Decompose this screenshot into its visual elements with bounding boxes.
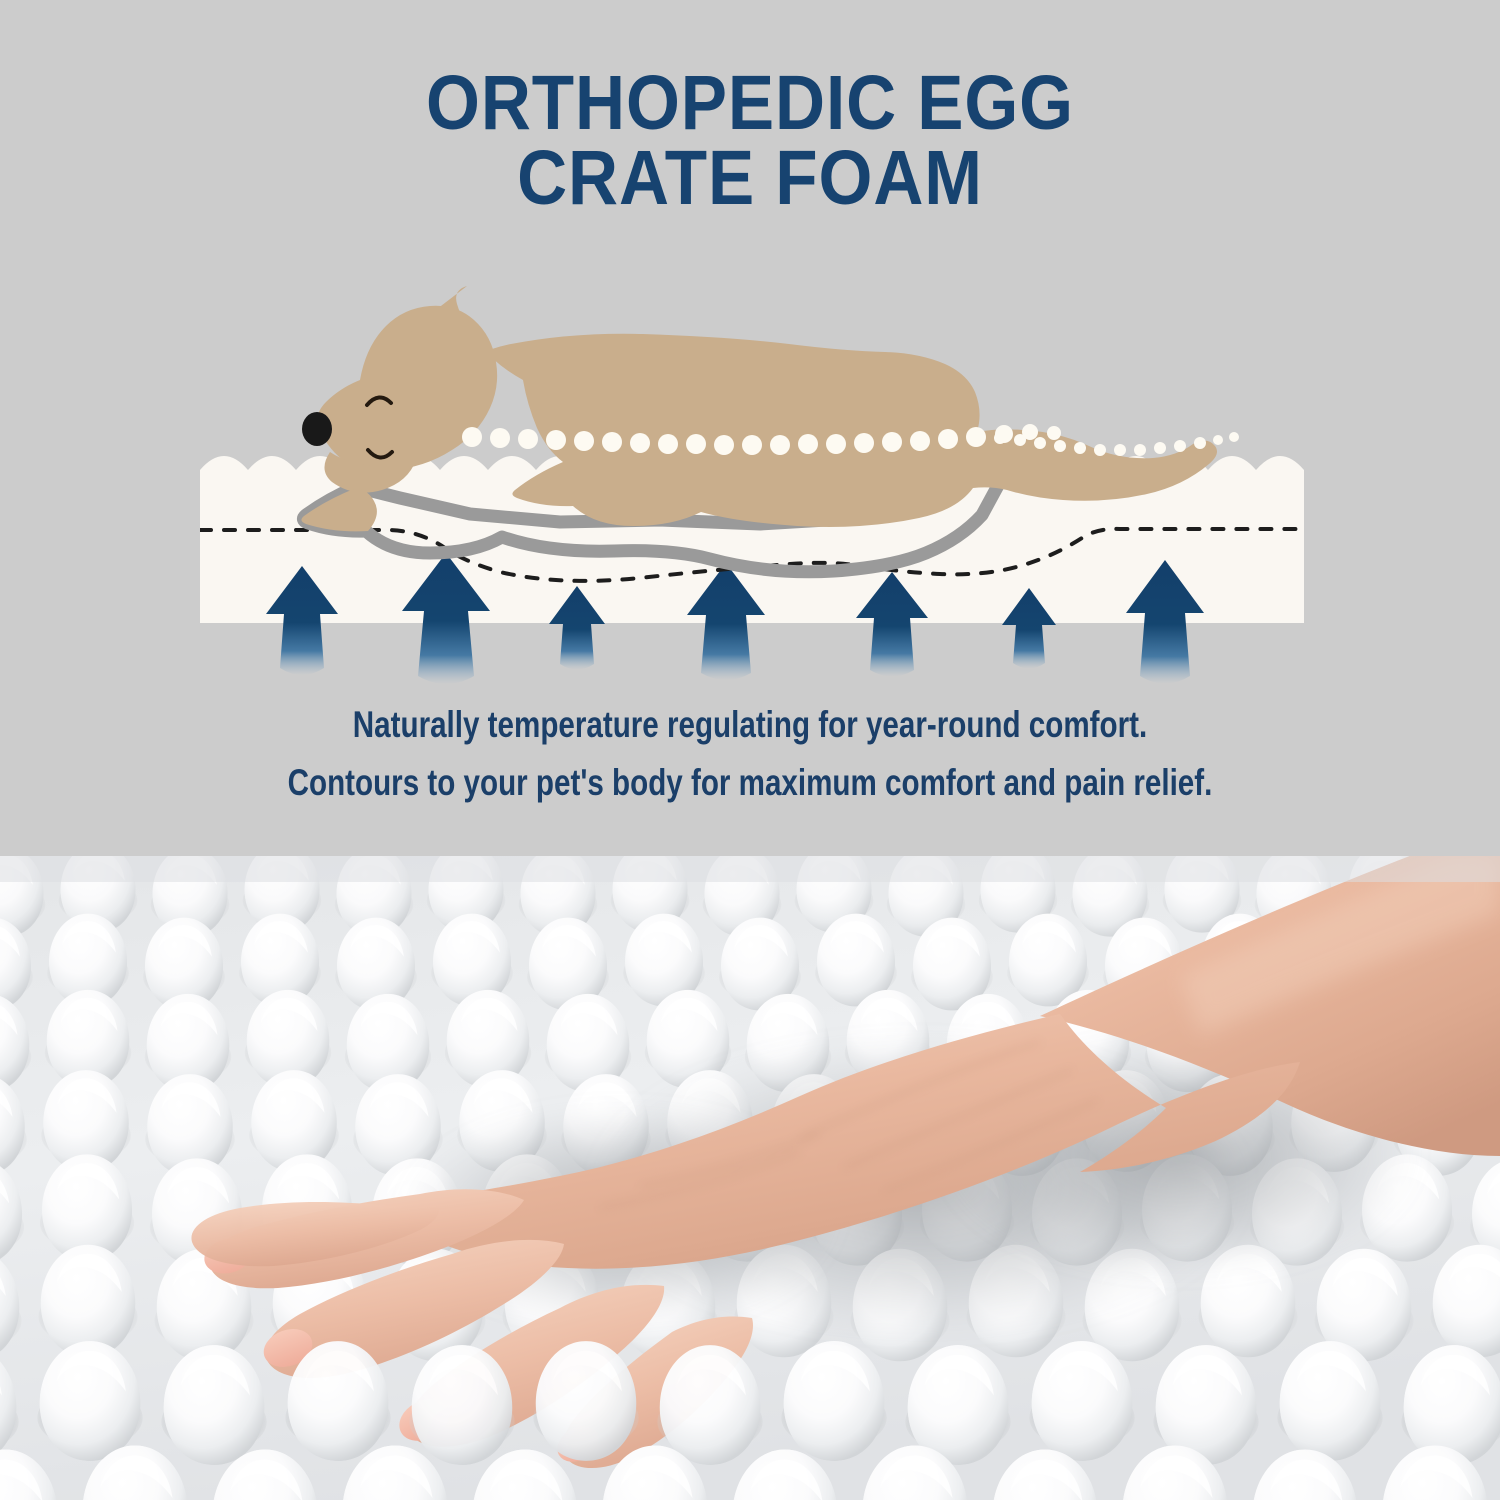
hand-pressing-egg-crate-foam-photo (0, 856, 1500, 1500)
dog-nose (302, 412, 332, 446)
caption-line-2: Contours to your pet's body for maximum … (150, 754, 1350, 812)
product-infographic: ORTHOPEDIC EGG CRATE FOAM Naturally temp… (0, 0, 1500, 1500)
title-line-1: ORTHOPEDIC EGG (75, 66, 1425, 141)
title-line-2: CRATE FOAM (75, 141, 1425, 216)
feature-caption: Naturally temperature regulating for yea… (150, 696, 1350, 813)
page-title: ORTHOPEDIC EGG CRATE FOAM (75, 66, 1425, 217)
top-info-panel: ORTHOPEDIC EGG CRATE FOAM Naturally temp… (0, 0, 1500, 856)
caption-line-1: Naturally temperature regulating for yea… (150, 696, 1350, 754)
